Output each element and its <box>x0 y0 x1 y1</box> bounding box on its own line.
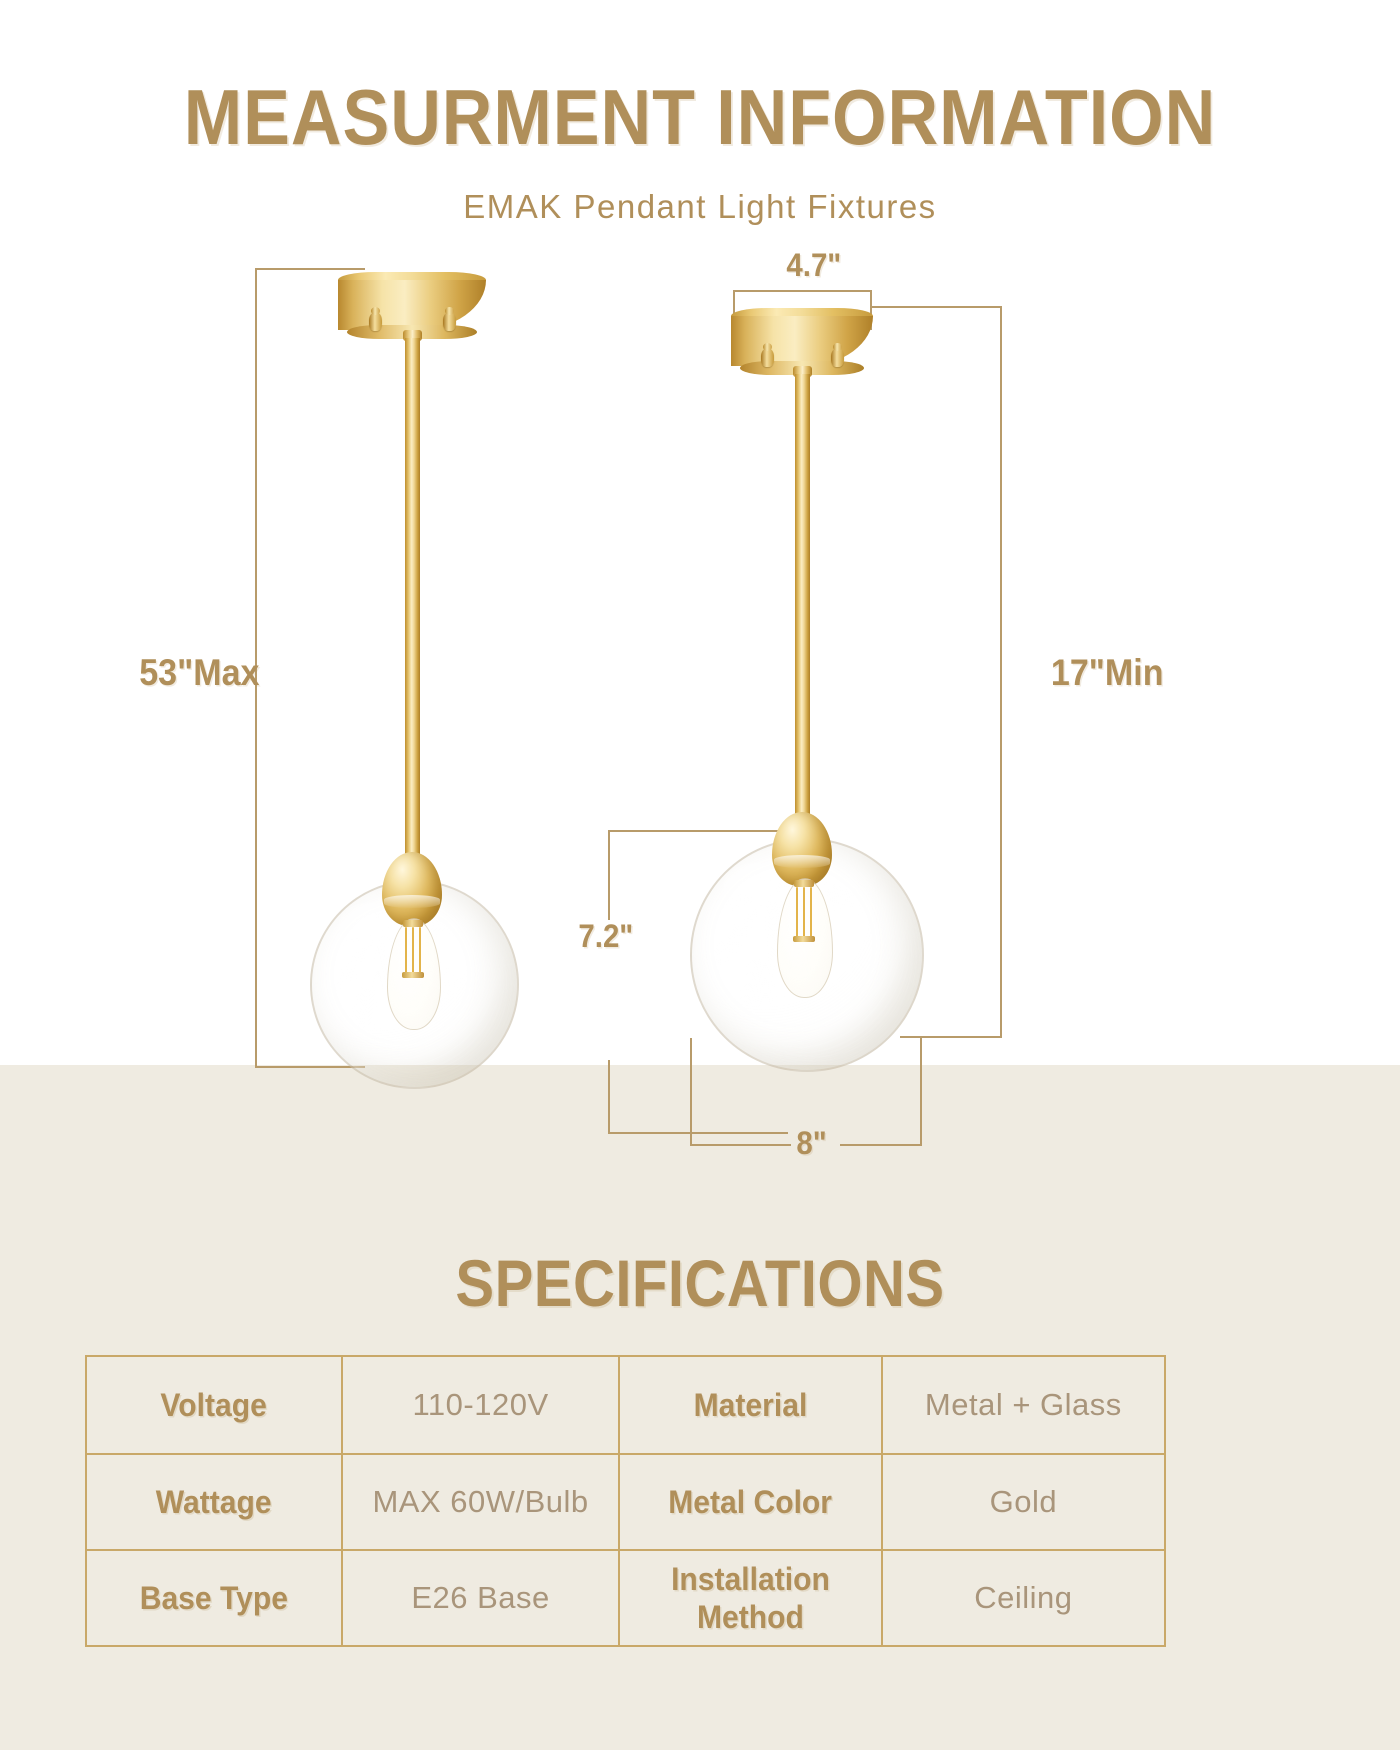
dim-17-top-tick <box>872 306 1002 308</box>
left-socket-ring <box>384 895 440 908</box>
dim-72-top-tick <box>608 830 788 832</box>
right-bulb-filament-a <box>796 887 798 937</box>
canopy-body <box>338 280 486 330</box>
dim-47-horizontal <box>733 290 872 292</box>
right-bulb-filament-base <box>794 880 814 887</box>
spec-key-label: Metal Color <box>668 1484 832 1520</box>
left-rod <box>405 338 420 858</box>
page-title: MEASURMENT INFORMATION <box>70 78 1330 156</box>
table-row: Base Type E26 Base Installation Method C… <box>87 1549 1164 1645</box>
spec-value-cell: Ceiling <box>881 1551 1164 1645</box>
right-canopy <box>731 308 873 370</box>
spec-key-label: Wattage <box>156 1484 272 1520</box>
dim-8-label: 8" <box>796 1125 826 1162</box>
left-bulb-filament-bridge <box>402 972 424 978</box>
spec-key-cell: Installation Method <box>618 1551 881 1645</box>
spec-key-label: Installation Method <box>671 1560 830 1636</box>
canopy-screw-right <box>443 312 456 331</box>
right-bulb-filament-bridge <box>793 936 815 942</box>
spec-value-cell: E26 Base <box>341 1551 618 1645</box>
dim-53-top-tick <box>255 268 365 270</box>
left-bulb-filament-b <box>412 927 414 973</box>
dim-17-vertical <box>1000 306 1002 1038</box>
dim-8-right-tick <box>920 1038 922 1146</box>
spec-value-cell: MAX 60W/Bulb <box>341 1455 618 1549</box>
dim-17-bottom-tick <box>900 1036 1002 1038</box>
right-socket-ring <box>774 855 830 868</box>
right-bulb-filament-b <box>803 887 805 937</box>
spec-value-cell: Metal + Glass <box>881 1357 1164 1453</box>
spec-key-cell: Metal Color <box>618 1455 881 1549</box>
spec-key-cell: Voltage <box>87 1357 341 1453</box>
dim-72-bottom-tick <box>608 1132 788 1134</box>
dim-53-label: 53"Max <box>139 652 259 694</box>
infographic-page: MEASURMENT INFORMATION EMAK Pendant Ligh… <box>0 0 1400 1750</box>
dim-72-label: 7.2" <box>578 918 633 955</box>
spec-key-label: Material <box>694 1387 808 1423</box>
canopy-screw-left <box>369 312 382 331</box>
spec-value-label: MAX 60W/Bulb <box>372 1484 588 1520</box>
spec-value-label: Gold <box>990 1484 1057 1520</box>
left-canopy <box>338 272 486 334</box>
right-rod <box>795 374 810 818</box>
table-row: Voltage 110-120V Material Metal + Glass <box>87 1357 1164 1453</box>
left-bulb-filament-base <box>403 920 423 927</box>
spec-value-label: Metal + Glass <box>925 1387 1122 1423</box>
canopy-body <box>731 316 873 366</box>
table-row: Wattage MAX 60W/Bulb Metal Color Gold <box>87 1453 1164 1549</box>
spec-key-cell: Wattage <box>87 1455 341 1549</box>
specifications-table: Voltage 110-120V Material Metal + Glass … <box>85 1355 1166 1647</box>
dim-8-left-tick <box>690 1038 692 1146</box>
dim-8-line-left <box>690 1144 791 1146</box>
spec-value-label: Ceiling <box>974 1580 1072 1616</box>
dim-72-vertical-up <box>608 830 610 920</box>
dim-72-vertical-dn <box>608 1060 610 1134</box>
left-bulb-filament-a <box>405 927 407 973</box>
spec-key-label: Voltage <box>161 1387 267 1423</box>
dim-47-label: 4.7" <box>786 247 841 284</box>
spec-value-cell: 110-120V <box>341 1357 618 1453</box>
spec-key-cell: Base Type <box>87 1551 341 1645</box>
spec-value-cell: Gold <box>881 1455 1164 1549</box>
spec-key-label: Base Type <box>140 1580 288 1616</box>
dim-8-line-right <box>840 1144 922 1146</box>
specifications-heading: SPECIFICATIONS <box>84 1248 1316 1318</box>
right-bulb-filament-c <box>810 887 812 937</box>
left-bulb-filament-c <box>419 927 421 973</box>
spec-value-label: E26 Base <box>411 1580 549 1616</box>
left-bulb <box>387 918 439 1028</box>
spec-value-label: 110-120V <box>412 1387 548 1423</box>
canopy-screw-left <box>761 348 774 367</box>
spec-key-cell: Material <box>618 1357 881 1453</box>
page-subtitle: EMAK Pendant Light Fixtures <box>0 188 1400 226</box>
dim-17-label: 17"Min <box>1051 652 1164 694</box>
right-bulb <box>777 878 831 996</box>
canopy-screw-right <box>831 348 844 367</box>
